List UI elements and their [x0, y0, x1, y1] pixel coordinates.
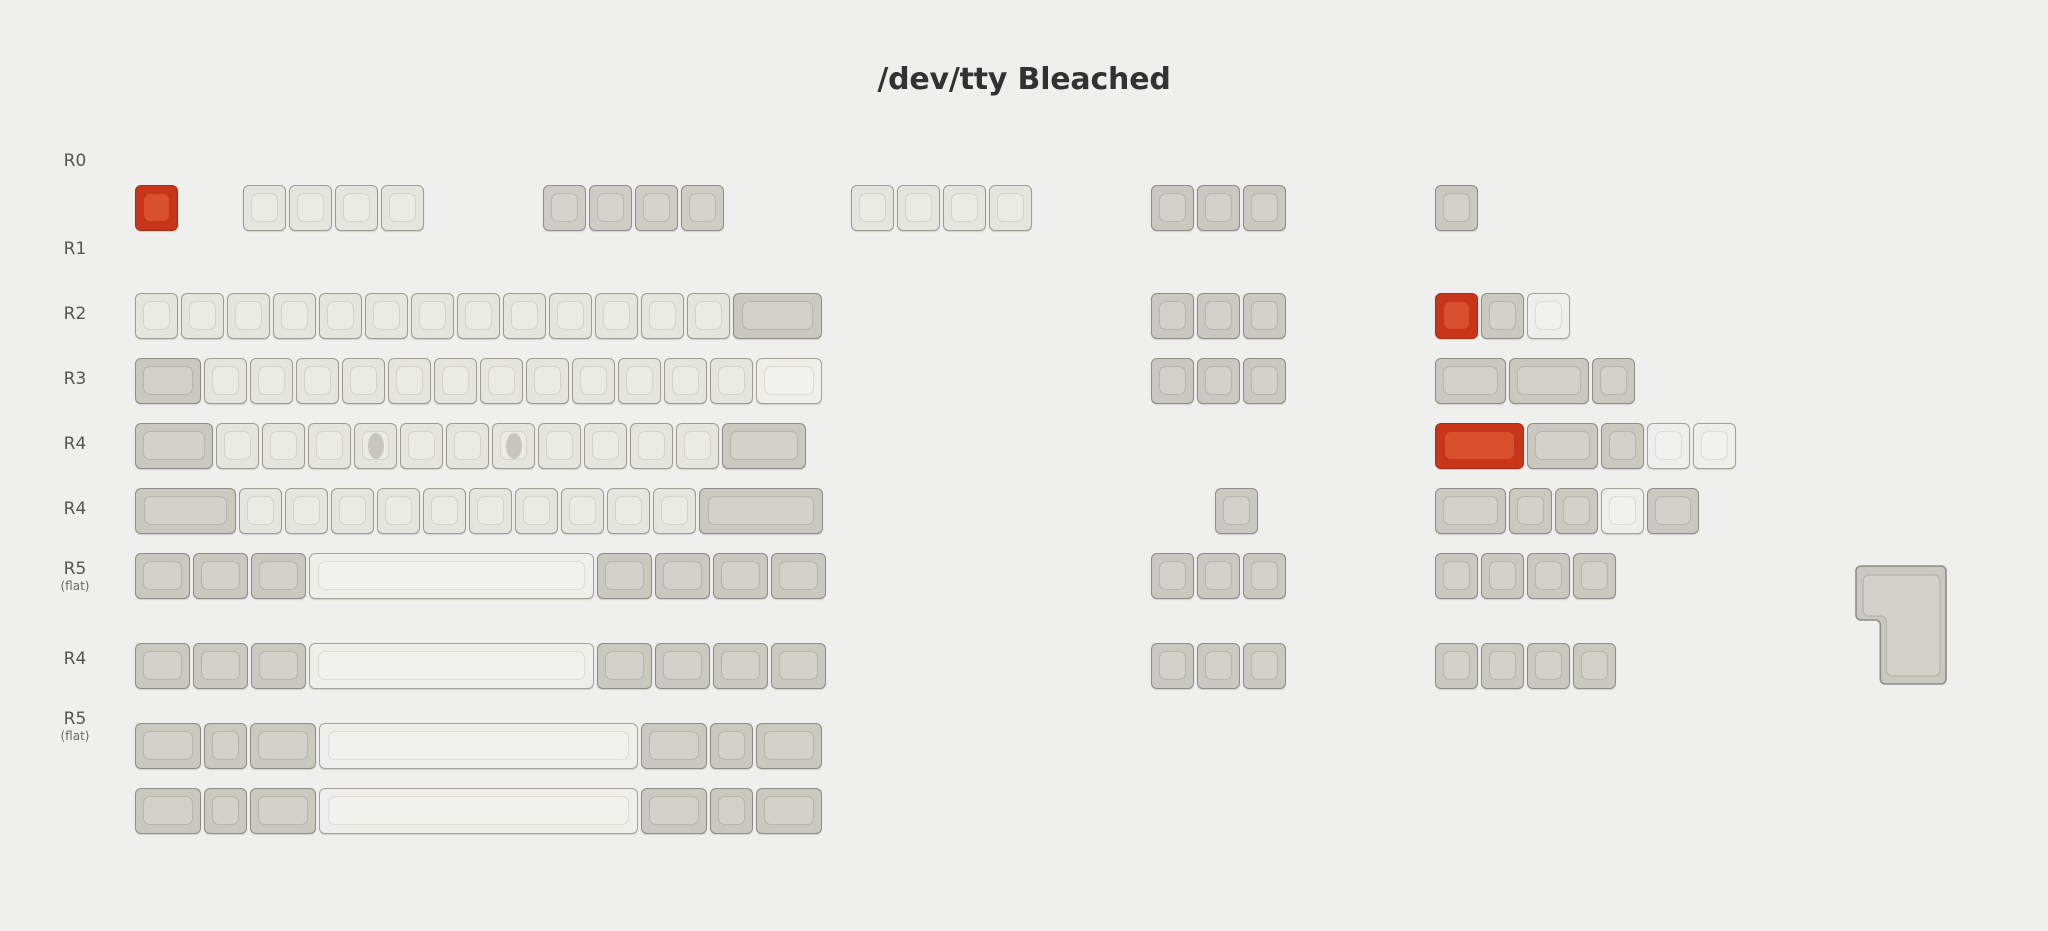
- keycap-r1-number-row-8[interactable]: [503, 293, 546, 339]
- keycap-top-surface: [1581, 651, 1608, 680]
- keycap-top-surface: [551, 193, 578, 222]
- keycap-top-surface: [605, 651, 644, 680]
- homing-bump-icon: [506, 433, 522, 459]
- keycap-top-surface: [143, 561, 182, 590]
- row-label-4: R4: [30, 435, 120, 455]
- keycap-r1-numpad-top-0[interactable]: [1435, 293, 1478, 339]
- keycap-top-surface: [718, 366, 745, 395]
- keycap-top-surface: [328, 796, 629, 825]
- keycap-top-surface: [1223, 496, 1250, 525]
- keycap-top-surface: [661, 496, 688, 525]
- keycap-r0-f1-f4-1[interactable]: [289, 185, 332, 231]
- keycap-top-surface: [523, 496, 550, 525]
- keycap-top-surface: [663, 651, 702, 680]
- keycap-top-surface: [1205, 366, 1232, 395]
- keycap-top-surface: [212, 366, 239, 395]
- keycap-top-surface: [235, 301, 262, 330]
- keycap-r4b-arrows-ldr-1[interactable]: [1197, 553, 1240, 599]
- keycap-r4b-bottom-row-625-3[interactable]: [309, 553, 594, 599]
- keycap-r2-qwerty-row-8[interactable]: [526, 358, 569, 404]
- keycap-top-surface: [339, 496, 366, 525]
- keycap-r2-qwerty-row-13[interactable]: [756, 358, 822, 404]
- keycap-top-surface: [1489, 301, 1516, 330]
- keycap-r3-numpad-456-0[interactable]: [1435, 423, 1524, 469]
- keycap-r4b-numpad-0-0[interactable]: [1435, 553, 1478, 599]
- keycap-r3-home-row-5[interactable]: [400, 423, 443, 469]
- keycap-top-surface: [580, 366, 607, 395]
- keycap-r3-home-row-7[interactable]: [492, 423, 535, 469]
- keycap-top-surface: [1205, 301, 1232, 330]
- keycap-top-surface: [1444, 431, 1515, 460]
- keycap-top-surface: [1443, 193, 1470, 222]
- keycap-r4c-bottom-row-7u-4[interactable]: [641, 723, 707, 769]
- keycap-r4b-bottom-row-625-7[interactable]: [771, 553, 826, 599]
- keycap-r0-escape-0[interactable]: [135, 185, 178, 231]
- row-label-7: R4: [30, 650, 120, 670]
- keycap-r1-number-row-6[interactable]: [411, 293, 454, 339]
- keycap-r2-qwerty-row-4[interactable]: [342, 358, 385, 404]
- keycap-top-surface: [454, 431, 481, 460]
- keycap-top-surface: [143, 301, 170, 330]
- keycap-top-surface: [350, 366, 377, 395]
- keycap-top-surface: [1535, 301, 1562, 330]
- keycap-top-surface: [1251, 366, 1278, 395]
- row-label-1: R1: [30, 240, 120, 260]
- keycap-r1-number-row-11[interactable]: [641, 293, 684, 339]
- keycap-r3-home-row-4[interactable]: [354, 423, 397, 469]
- keycap-top-surface: [1535, 561, 1562, 590]
- keycap-top-surface: [1535, 651, 1562, 680]
- keycap-top-surface: [143, 651, 182, 680]
- row-label-profile: R4: [64, 434, 87, 454]
- keycap-r1-number-row-3[interactable]: [273, 293, 316, 339]
- keycap-r4b-bottom-row-625-5[interactable]: [655, 553, 710, 599]
- keycap-r0-f9-f12-2[interactable]: [943, 185, 986, 231]
- keycap-top-surface: [1581, 561, 1608, 590]
- keycap-r1-number-row-0[interactable]: [135, 293, 178, 339]
- keycap-r0-f1-f4-0[interactable]: [243, 185, 286, 231]
- keycap-r2-numpad-789-2[interactable]: [1592, 358, 1635, 404]
- keycap-r3-home-row-9[interactable]: [584, 423, 627, 469]
- keycap-r4a-shift-row-5[interactable]: [423, 488, 466, 534]
- row-label-5: R4: [30, 500, 120, 520]
- keycap-r0-nav-top-0[interactable]: [1151, 185, 1194, 231]
- keycap-top-surface: [1443, 561, 1470, 590]
- keycap-top-surface: [1489, 561, 1516, 590]
- keycap-top-surface: [511, 301, 538, 330]
- keycap-r4a-shift-row-10[interactable]: [653, 488, 696, 534]
- keycap-top-surface: [649, 796, 699, 825]
- keycap-top-surface: [396, 366, 423, 395]
- keycap-top-surface: [189, 301, 216, 330]
- keycap-top-surface: [1159, 193, 1186, 222]
- keycap-top-surface: [1159, 301, 1186, 330]
- keycap-r4a-numpad-123-4[interactable]: [1647, 488, 1699, 534]
- keycap-r1-number-row-2[interactable]: [227, 293, 270, 339]
- keycap-top-surface: [442, 366, 469, 395]
- keycap-r4c-bottom-row-7u-2[interactable]: [250, 723, 316, 769]
- keycap-top-surface: [1517, 366, 1581, 395]
- keycap-top-surface: [603, 301, 630, 330]
- keycap-r0-f9-f12-1[interactable]: [897, 185, 940, 231]
- row-label-6: R5(flat): [30, 560, 120, 593]
- keycap-r4a-numpad-123-2[interactable]: [1555, 488, 1598, 534]
- keycap-r5b-bottom-row-7u-flat-4[interactable]: [641, 788, 707, 834]
- keycap-r4a-shift-row-11[interactable]: [699, 488, 823, 534]
- keycap-r1-nav-ins-1[interactable]: [1197, 293, 1240, 339]
- keycap-top-surface: [1443, 301, 1470, 330]
- keycap-top-surface: [389, 193, 416, 222]
- keycap-r1-number-row-1[interactable]: [181, 293, 224, 339]
- keycap-top-surface: [144, 496, 227, 525]
- keycap-top-surface: [408, 431, 435, 460]
- keycap-r3-home-row-12[interactable]: [722, 423, 806, 469]
- keycap-top-surface: [297, 193, 324, 222]
- keycap-top-surface: [1517, 496, 1544, 525]
- keycap-r4b-bottom-row-625-0[interactable]: [135, 553, 190, 599]
- keycap-r3-home-row-6[interactable]: [446, 423, 489, 469]
- keycap-r2-qwerty-row-2[interactable]: [250, 358, 293, 404]
- keycap-r3-home-row-8[interactable]: [538, 423, 581, 469]
- keycap-r2-qwerty-row-11[interactable]: [664, 358, 707, 404]
- keycap-top-surface: [638, 431, 665, 460]
- keycap-r2-qwerty-row-5[interactable]: [388, 358, 431, 404]
- keycap-r5b-bottom-row-7u-flat-1[interactable]: [204, 788, 247, 834]
- keycap-r0-numpad-extra-0[interactable]: [1435, 185, 1478, 231]
- keycap-top-surface: [1205, 561, 1232, 590]
- keycap-r4c-bottom-row-7u-0[interactable]: [135, 723, 201, 769]
- keycap-top-surface: [1443, 651, 1470, 680]
- keycap-r3-numpad-456-4[interactable]: [1693, 423, 1736, 469]
- keycap-top-surface: [1251, 301, 1278, 330]
- keycap-top-surface: [779, 651, 818, 680]
- keycap-r1-nav-ins-0[interactable]: [1151, 293, 1194, 339]
- keycap-r4a-shift-row-9[interactable]: [607, 488, 650, 534]
- row-label-profile: R2: [64, 304, 87, 324]
- homing-bump-icon: [368, 433, 384, 459]
- keycap-r4a-numpad-123-3[interactable]: [1601, 488, 1644, 534]
- keycap-r5a-bottom-row-625-flat-3[interactable]: [309, 643, 594, 689]
- keycap-top-surface: [684, 431, 711, 460]
- keycap-r4a-shift-row-6[interactable]: [469, 488, 512, 534]
- keycap-r5a-bottom-row-625-flat-7[interactable]: [771, 643, 826, 689]
- row-label-sub: (flat): [30, 580, 120, 594]
- keycap-r4c-bottom-row-7u-1[interactable]: [204, 723, 247, 769]
- keycap-r5a-numpad-flat-0[interactable]: [1435, 643, 1478, 689]
- iso-enter-keycap[interactable]: [1855, 565, 1947, 685]
- row-label-profile: R4: [64, 649, 87, 669]
- keycap-r5a-numpad-flat-3[interactable]: [1573, 643, 1616, 689]
- keycap-top-surface: [1443, 366, 1498, 395]
- keycap-r4b-bottom-row-625-6[interactable]: [713, 553, 768, 599]
- keycap-r4c-bottom-row-7u-3[interactable]: [319, 723, 638, 769]
- keycap-r1-number-row-9[interactable]: [549, 293, 592, 339]
- keycap-top-surface: [951, 193, 978, 222]
- keycap-top-surface: [708, 496, 814, 525]
- keycap-r2-qwerty-row-0[interactable]: [135, 358, 201, 404]
- keycap-top-surface: [569, 496, 596, 525]
- keycap-r4a-shift-row-7[interactable]: [515, 488, 558, 534]
- keycap-r0-f1-f4-2[interactable]: [335, 185, 378, 231]
- keycap-top-surface: [1701, 431, 1728, 460]
- keycap-top-surface: [270, 431, 297, 460]
- keycap-r3-numpad-456-1[interactable]: [1527, 423, 1598, 469]
- keycap-r2-qwerty-row-1[interactable]: [204, 358, 247, 404]
- keycap-top-surface: [1159, 651, 1186, 680]
- keycap-r0-nav-top-1[interactable]: [1197, 185, 1240, 231]
- keycap-r1-number-row-4[interactable]: [319, 293, 362, 339]
- keycap-top-surface: [534, 366, 561, 395]
- keycap-top-surface: [281, 301, 308, 330]
- keycap-top-surface: [742, 301, 813, 330]
- keycap-r5b-bottom-row-7u-flat-0[interactable]: [135, 788, 201, 834]
- keycap-r4b-bottom-row-625-1[interactable]: [193, 553, 248, 599]
- row-label-profile: R3: [64, 369, 87, 389]
- keycap-r5a-arrows-ldr-flat-2[interactable]: [1243, 643, 1286, 689]
- keycap-r4b-bottom-row-625-4[interactable]: [597, 553, 652, 599]
- keycap-top-surface: [718, 731, 745, 760]
- row-label-sub: (flat): [30, 730, 120, 744]
- keycap-r4b-numpad-0-2[interactable]: [1527, 553, 1570, 599]
- keycap-top-surface: [258, 731, 308, 760]
- keycap-r0-f5-f8-2[interactable]: [635, 185, 678, 231]
- keycap-r4a-shift-row-3[interactable]: [331, 488, 374, 534]
- keycap-top-surface: [764, 731, 814, 760]
- keycap-r3-numpad-456-2[interactable]: [1601, 423, 1644, 469]
- keycap-top-surface: [212, 796, 239, 825]
- keycap-top-surface: [592, 431, 619, 460]
- keycap-top-surface: [1159, 561, 1186, 590]
- keycap-top-surface: [1563, 496, 1590, 525]
- keycap-r4a-shift-row-0[interactable]: [135, 488, 236, 534]
- keycap-top-surface: [201, 651, 240, 680]
- iso-enter-shape: [1855, 565, 1947, 685]
- keycap-top-surface: [259, 561, 298, 590]
- keycap-top-surface: [1609, 431, 1636, 460]
- keycap-top-surface: [259, 651, 298, 680]
- keycap-r5a-bottom-row-625-flat-1[interactable]: [193, 643, 248, 689]
- keycap-top-surface: [663, 561, 702, 590]
- keycap-r4b-numpad-0-3[interactable]: [1573, 553, 1616, 599]
- keycap-r5a-bottom-row-625-flat-5[interactable]: [655, 643, 710, 689]
- keycap-top-surface: [477, 496, 504, 525]
- keycap-r5b-bottom-row-7u-flat-5[interactable]: [710, 788, 753, 834]
- keycap-top-surface: [258, 796, 308, 825]
- keycap-top-surface: [649, 731, 699, 760]
- keycap-top-surface: [316, 431, 343, 460]
- keycap-top-surface: [689, 193, 716, 222]
- keycap-top-surface: [304, 366, 331, 395]
- keycap-top-surface: [373, 301, 400, 330]
- keycap-top-surface: [1159, 366, 1186, 395]
- keycap-top-surface: [546, 431, 573, 460]
- keycap-top-surface: [465, 301, 492, 330]
- keycap-top-surface: [385, 496, 412, 525]
- keycap-top-surface: [327, 301, 354, 330]
- keycap-top-surface: [721, 561, 760, 590]
- keycap-top-surface: [626, 366, 653, 395]
- keycap-r0-f1-f4-3[interactable]: [381, 185, 424, 231]
- keycap-r2-qwerty-row-9[interactable]: [572, 358, 615, 404]
- keycap-r4b-numpad-0-1[interactable]: [1481, 553, 1524, 599]
- keycap-top-surface: [597, 193, 624, 222]
- keycap-r4a-arrow-up-0[interactable]: [1215, 488, 1258, 534]
- keycap-r5a-bottom-row-625-flat-0[interactable]: [135, 643, 190, 689]
- keycap-r3-home-row-10[interactable]: [630, 423, 673, 469]
- keycap-top-surface: [212, 731, 239, 760]
- keycap-top-surface: [328, 731, 629, 760]
- keycap-r1-number-row-7[interactable]: [457, 293, 500, 339]
- keycap-r0-f9-f12-3[interactable]: [989, 185, 1032, 231]
- keycap-r0-f5-f8-0[interactable]: [543, 185, 586, 231]
- keycap-r1-numpad-top-2[interactable]: [1527, 293, 1570, 339]
- keycap-r5a-arrows-ldr-flat-1[interactable]: [1197, 643, 1240, 689]
- keycap-top-surface: [1251, 561, 1278, 590]
- keycap-r2-qwerty-row-3[interactable]: [296, 358, 339, 404]
- keycap-top-surface: [672, 366, 699, 395]
- keycap-top-surface: [143, 731, 193, 760]
- keycap-r2-qwerty-row-6[interactable]: [434, 358, 477, 404]
- row-label-profile: R5: [64, 709, 87, 729]
- keycap-r5a-arrows-ldr-flat-0[interactable]: [1151, 643, 1194, 689]
- keycap-top-surface: [1251, 193, 1278, 222]
- keycap-top-surface: [143, 431, 205, 460]
- keycap-r4a-numpad-123-0[interactable]: [1435, 488, 1506, 534]
- keycap-layout-board: R0R1R2R3R4R4R5(flat)R4R5(flat): [0, 0, 2048, 931]
- row-label-3: R3: [30, 370, 120, 390]
- keycap-r5a-bottom-row-625-flat-2[interactable]: [251, 643, 306, 689]
- keycap-r2-nav-del-2[interactable]: [1243, 358, 1286, 404]
- keycap-r4a-shift-row-4[interactable]: [377, 488, 420, 534]
- keycap-top-surface: [343, 193, 370, 222]
- keycap-r4b-bottom-row-625-2[interactable]: [251, 553, 306, 599]
- keycap-top-surface: [1535, 431, 1590, 460]
- keycap-r3-home-row-3[interactable]: [308, 423, 351, 469]
- keycap-top-surface: [1655, 496, 1691, 525]
- keycap-top-surface: [251, 193, 278, 222]
- row-label-profile: R4: [64, 499, 87, 519]
- keycap-r1-numpad-top-1[interactable]: [1481, 293, 1524, 339]
- keycap-top-surface: [318, 651, 585, 680]
- keycap-r3-numpad-456-3[interactable]: [1647, 423, 1690, 469]
- keycap-top-surface: [764, 796, 814, 825]
- keycap-top-surface: [1251, 651, 1278, 680]
- keycap-r1-number-row-5[interactable]: [365, 293, 408, 339]
- keycap-top-surface: [649, 301, 676, 330]
- keycap-top-surface: [605, 561, 644, 590]
- keycap-r3-home-row-2[interactable]: [262, 423, 305, 469]
- keycap-r5a-numpad-flat-2[interactable]: [1527, 643, 1570, 689]
- keycap-top-surface: [1609, 496, 1636, 525]
- keycap-top-surface: [1205, 193, 1232, 222]
- keycap-r3-home-row-0[interactable]: [135, 423, 213, 469]
- keycap-top-surface: [615, 496, 642, 525]
- keycap-r0-f5-f8-1[interactable]: [589, 185, 632, 231]
- keycap-r2-qwerty-row-10[interactable]: [618, 358, 661, 404]
- keycap-r1-number-row-10[interactable]: [595, 293, 638, 339]
- keycap-r5b-bottom-row-7u-flat-3[interactable]: [319, 788, 638, 834]
- keycap-top-surface: [318, 561, 585, 590]
- keycap-r1-number-row-12[interactable]: [687, 293, 730, 339]
- keycap-r0-f9-f12-0[interactable]: [851, 185, 894, 231]
- row-label-0: R0: [30, 152, 120, 172]
- keycap-top-surface: [730, 431, 798, 460]
- keycap-r2-nav-del-0[interactable]: [1151, 358, 1194, 404]
- keycap-top-surface: [1600, 366, 1627, 395]
- keycap-top-surface: [258, 366, 285, 395]
- keycap-top-surface: [557, 301, 584, 330]
- keycap-r4a-shift-row-2[interactable]: [285, 488, 328, 534]
- keycap-top-surface: [643, 193, 670, 222]
- keycap-r5a-bottom-row-625-flat-4[interactable]: [597, 643, 652, 689]
- keycap-top-surface: [201, 561, 240, 590]
- keycap-top-surface: [695, 301, 722, 330]
- keycap-top-surface: [1489, 651, 1516, 680]
- keycap-top-surface: [779, 561, 818, 590]
- keycap-r0-nav-top-2[interactable]: [1243, 185, 1286, 231]
- keycap-r4a-shift-row-1[interactable]: [239, 488, 282, 534]
- keycap-top-surface: [419, 301, 446, 330]
- keycap-top-surface: [859, 193, 886, 222]
- keycap-r2-qwerty-row-7[interactable]: [480, 358, 523, 404]
- keycap-r5a-numpad-flat-1[interactable]: [1481, 643, 1524, 689]
- keycap-r2-qwerty-row-12[interactable]: [710, 358, 753, 404]
- keycap-top-surface: [997, 193, 1024, 222]
- keycap-r1-nav-ins-2[interactable]: [1243, 293, 1286, 339]
- keycap-top-surface: [247, 496, 274, 525]
- keycap-r4a-shift-row-8[interactable]: [561, 488, 604, 534]
- keycap-top-surface: [224, 431, 251, 460]
- keycap-top-surface: [721, 651, 760, 680]
- keycap-top-surface: [143, 193, 170, 222]
- keycap-r5b-bottom-row-7u-flat-2[interactable]: [250, 788, 316, 834]
- keycap-r4c-bottom-row-7u-5[interactable]: [710, 723, 753, 769]
- keycap-r4c-bottom-row-7u-6[interactable]: [756, 723, 822, 769]
- keycap-r3-home-row-1[interactable]: [216, 423, 259, 469]
- keycap-top-surface: [143, 366, 193, 395]
- keycap-r1-number-row-13[interactable]: [733, 293, 822, 339]
- row-label-8: R5(flat): [30, 710, 120, 743]
- row-label-profile: R5: [64, 559, 87, 579]
- keycap-top-surface: [431, 496, 458, 525]
- row-label-profile: R0: [64, 151, 87, 171]
- keycap-r2-numpad-789-0[interactable]: [1435, 358, 1506, 404]
- keycap-r4b-arrows-ldr-2[interactable]: [1243, 553, 1286, 599]
- keycap-top-surface: [718, 796, 745, 825]
- row-label-profile: R1: [64, 239, 87, 259]
- keycap-r2-nav-del-1[interactable]: [1197, 358, 1240, 404]
- keycap-r2-numpad-789-1[interactable]: [1509, 358, 1589, 404]
- keycap-r5b-bottom-row-7u-flat-6[interactable]: [756, 788, 822, 834]
- keycap-r4a-numpad-123-1[interactable]: [1509, 488, 1552, 534]
- keycap-r3-home-row-11[interactable]: [676, 423, 719, 469]
- keycap-top-surface: [764, 366, 814, 395]
- keycap-top-surface: [1205, 651, 1232, 680]
- keycap-top-surface: [1443, 496, 1498, 525]
- keycap-r0-f5-f8-3[interactable]: [681, 185, 724, 231]
- keycap-top-surface: [488, 366, 515, 395]
- keycap-top-surface: [143, 796, 193, 825]
- row-label-2: R2: [30, 305, 120, 325]
- keycap-r5a-bottom-row-625-flat-6[interactable]: [713, 643, 768, 689]
- keycap-r4b-arrows-ldr-0[interactable]: [1151, 553, 1194, 599]
- keycap-top-surface: [293, 496, 320, 525]
- keycap-top-surface: [905, 193, 932, 222]
- keycap-top-surface: [1655, 431, 1682, 460]
